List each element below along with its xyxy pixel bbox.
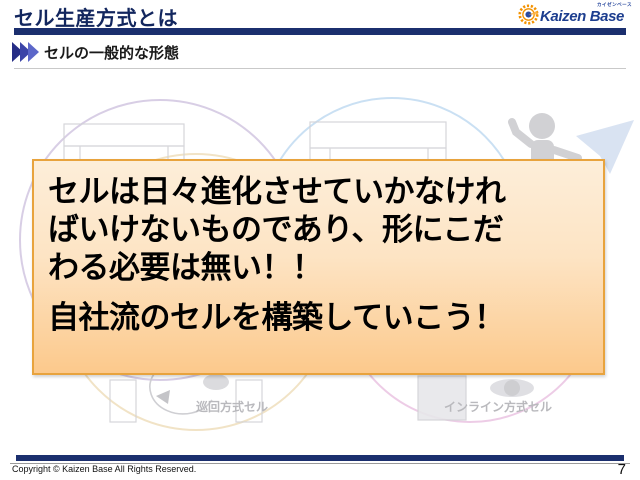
callout-box: セルは日々進化させていかなけれ ばいけないものであり、形にこだ わる必要は無い！…	[32, 159, 605, 375]
chevron-right-icon	[12, 42, 36, 62]
slide: セル生産方式とは カイゼンベース Kaizen Base セルの一般的な形態	[0, 0, 640, 480]
subheading-divider	[14, 68, 626, 69]
callout-emphasis-line: 自社流のセルを構築していこう！	[48, 299, 593, 337]
callout-line-3: わる必要は無い！！	[48, 249, 593, 287]
copyright-text: Copyright © Kaizen Base All Rights Reser…	[12, 464, 196, 474]
title-underline-bar	[14, 28, 626, 35]
slide-header: セル生産方式とは カイゼンベース Kaizen Base	[0, 0, 640, 34]
section-subheading: セルの一般的な形態	[12, 40, 179, 64]
bg-label-inline-cell-text: インライン方式セル	[444, 398, 552, 415]
gear-icon	[518, 4, 539, 25]
bg-label-patrol-cell-text: 巡回方式セル	[196, 398, 268, 415]
callout-line-1: セルは日々進化させていかなけれ	[48, 173, 593, 211]
logo-kana-text: カイゼンベース	[597, 1, 632, 8]
kaizen-base-logo: カイゼンベース Kaizen Base	[510, 1, 634, 28]
subheading-label: セルの一般的な形態	[44, 42, 179, 63]
callout-line-2: ばいけないものであり、形にこだ	[48, 211, 593, 249]
logo-wordmark: Kaizen Base	[540, 8, 624, 25]
arrow-head-icon	[156, 390, 170, 404]
worker-dot-icon	[203, 374, 229, 390]
callout-text-block: セルは日々進化させていかなけれ ばいけないものであり、形にこだ わる必要は無い！…	[48, 173, 593, 337]
page-number: 7	[618, 461, 626, 478]
footer-bar	[16, 455, 624, 461]
callout-spacer	[48, 287, 593, 299]
page-title: セル生産方式とは	[14, 2, 178, 31]
